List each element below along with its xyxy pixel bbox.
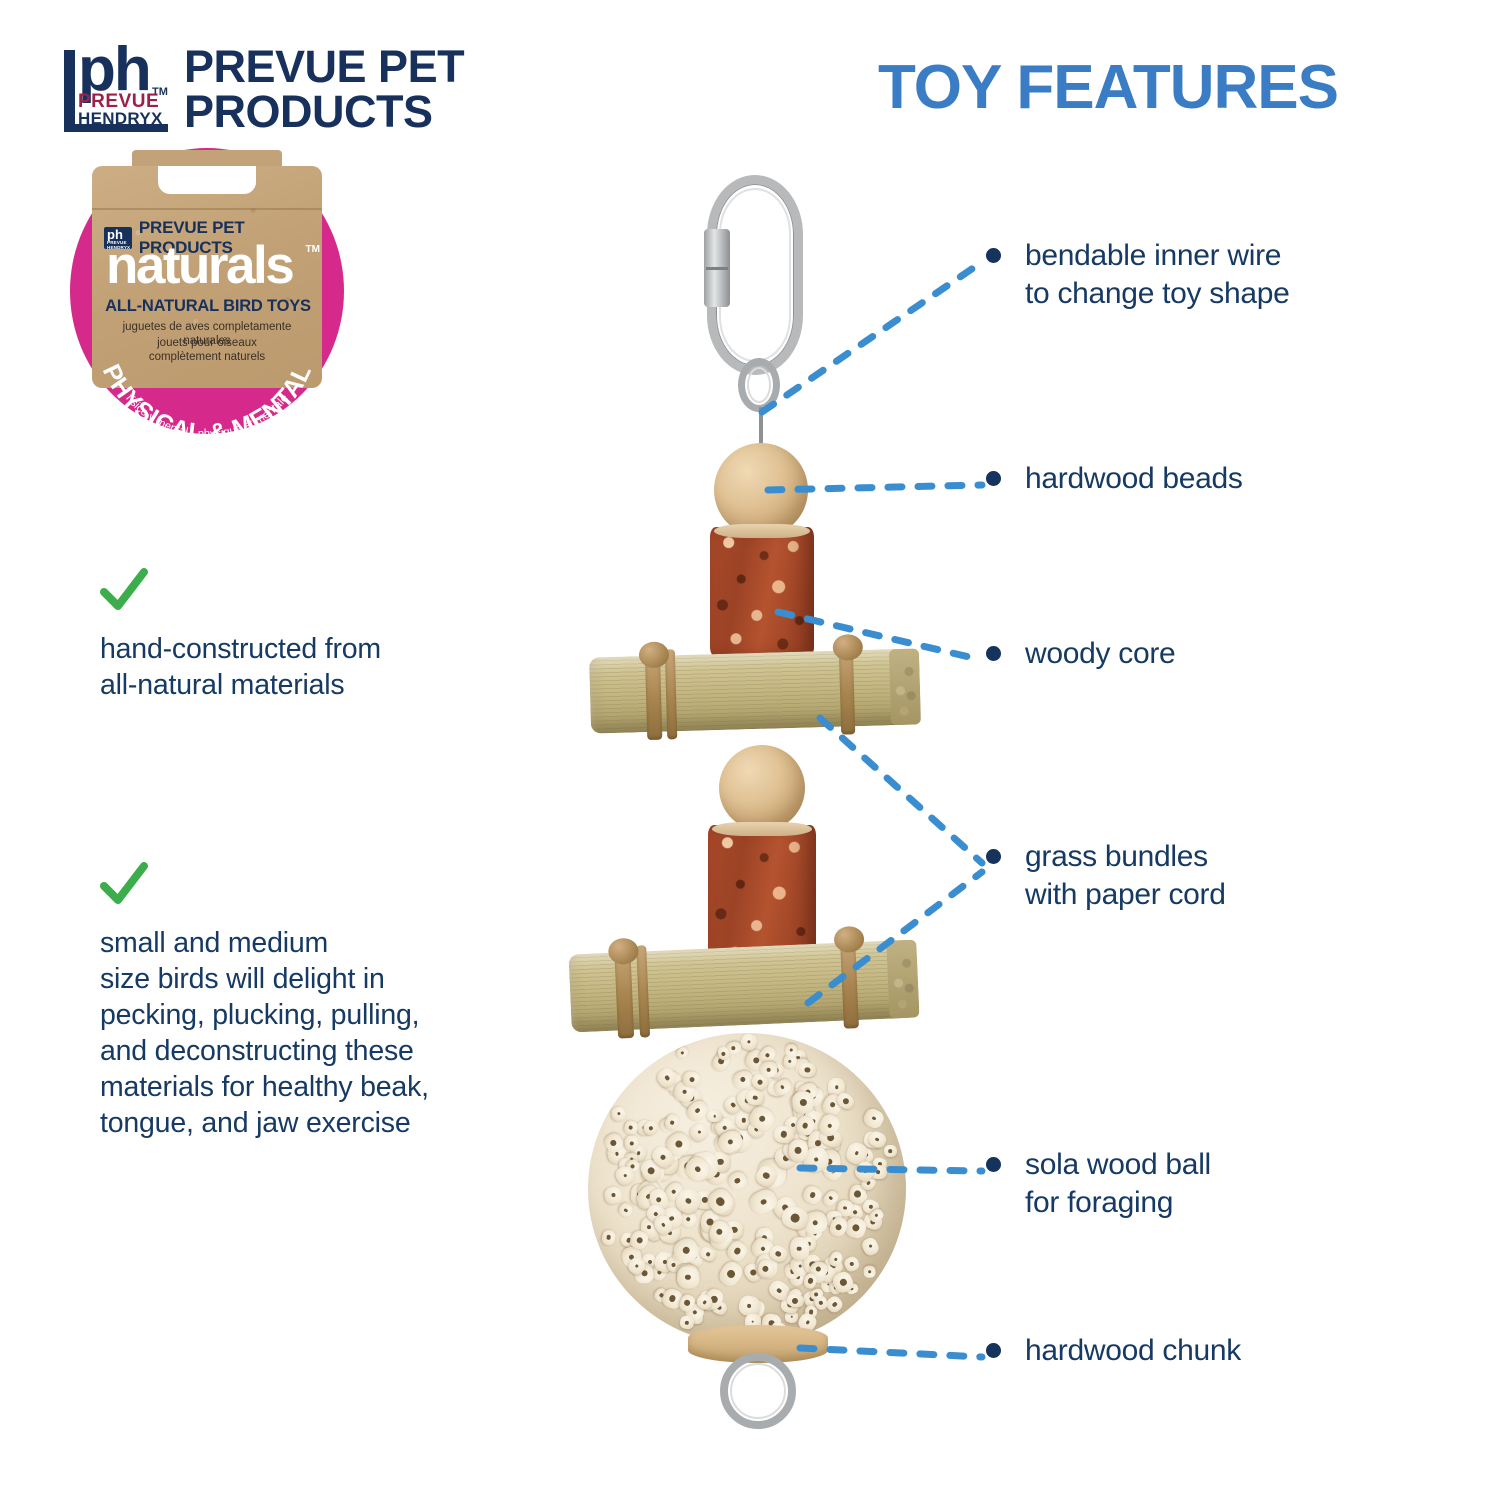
sola-cell-hole — [702, 1299, 707, 1304]
sola-cell-hole — [876, 1170, 880, 1174]
sola-cell-hole — [623, 1174, 627, 1178]
sola-cell-hole — [792, 1298, 799, 1305]
feature-label: grass bundles with paper cord — [1025, 838, 1226, 914]
sola-cell — [884, 1145, 897, 1158]
sola-cell — [603, 1185, 623, 1205]
sola-cell-hole — [715, 1196, 727, 1208]
sola-cell-hole — [844, 1207, 848, 1211]
sola-cell-hole — [802, 1123, 809, 1130]
feature-label: woody core — [1025, 635, 1175, 673]
woody-core-cap — [714, 524, 810, 538]
check-bullet-1-text: hand-constructed from all-natural materi… — [100, 631, 381, 703]
sola-cell-hole — [829, 1102, 836, 1109]
sola-cell-hole — [756, 1079, 763, 1086]
sola-cell-hole — [606, 1235, 611, 1240]
sola-cell-hole — [694, 1107, 701, 1114]
sola-cell-hole — [747, 1040, 751, 1044]
sola-cell-hole — [628, 1125, 633, 1130]
sola-cell-hole — [805, 1067, 810, 1072]
hardwood-bead-upper — [714, 443, 808, 537]
sola-cell — [843, 1254, 861, 1272]
hardwood-bead-lower — [719, 745, 805, 831]
check-bullet-2: small and medium size birds will delight… — [100, 862, 429, 1141]
feature-grass-bundles: grass bundles with paper cord — [986, 838, 1226, 914]
sola-cell — [610, 1106, 626, 1122]
sola-cell-hole — [868, 1271, 871, 1274]
sola-cell — [716, 1259, 746, 1290]
sola-cell — [860, 1236, 881, 1257]
sola-cell-hole — [838, 1278, 847, 1287]
sola-cell-hole — [805, 1320, 810, 1325]
sola-cell — [601, 1229, 617, 1246]
sola-cell-hole — [753, 1096, 758, 1101]
feature-hardwood-chunk: hardwood chunk — [986, 1332, 1241, 1370]
bullet-dot-icon — [986, 471, 1001, 486]
split-ring-bottom — [720, 1353, 796, 1429]
bullet-dot-icon — [986, 248, 1001, 263]
check-icon — [100, 568, 148, 614]
sola-cell-hole — [762, 1171, 771, 1180]
sola-cell-hole — [827, 1122, 832, 1127]
grass-cut-ends-right — [886, 939, 919, 1018]
sola-cell-hole — [731, 1046, 736, 1051]
sola-cell-hole — [835, 1085, 839, 1089]
sola-cell-hole — [757, 1114, 766, 1123]
sola-cell-hole — [623, 1208, 628, 1213]
sola-cell — [785, 1043, 797, 1056]
sola-cell-hole — [655, 1196, 662, 1203]
paper-cord-left-2 — [665, 649, 678, 739]
sola-cell-hole — [611, 1193, 616, 1198]
badge-arc-text: PHYSICAL & MENTAL físico y mental · phys… — [70, 148, 344, 434]
feature-label: hardwood beads — [1025, 460, 1243, 498]
sola-cell-hole — [868, 1204, 874, 1210]
sola-cell-hole — [834, 1223, 842, 1231]
sola-cell-hole — [660, 1154, 667, 1161]
naturals-badge: ph PREVUE HENDRYX PREVUE PET PRODUCTS na… — [70, 148, 344, 434]
sola-cell-hole — [780, 1085, 785, 1090]
sola-cell — [616, 1201, 634, 1219]
sola-cell-hole — [681, 1245, 691, 1255]
sola-cell-hole — [868, 1244, 872, 1248]
grass-bundle-lower — [568, 939, 919, 1032]
sola-cell-hole — [747, 1304, 752, 1309]
sola-cell-hole — [629, 1141, 633, 1145]
sola-cell-hole — [871, 1116, 876, 1121]
sola-cell-hole — [798, 1263, 802, 1267]
sola-cell-hole — [809, 1192, 816, 1199]
paper-cord-left-2 — [636, 945, 650, 1037]
sola-cell-hole — [790, 1316, 793, 1319]
feature-sola-wood-ball: sola wood ball for foraging — [986, 1146, 1211, 1222]
sola-cell-hole — [851, 1224, 860, 1233]
sola-cell-hole — [635, 1237, 643, 1245]
sola-cell-hole — [766, 1068, 771, 1073]
sola-cell-hole — [827, 1283, 830, 1286]
bullet-dot-icon — [986, 849, 1001, 864]
sola-cell-hole — [673, 1139, 683, 1149]
page-title: TOY FEATURES — [878, 52, 1338, 123]
sola-cell-hole — [680, 1051, 684, 1055]
bullet-dot-icon — [986, 1343, 1001, 1358]
sola-cell-hole — [733, 1246, 742, 1255]
feature-label: bendable inner wire to change toy shape — [1025, 237, 1290, 313]
sola-cell-hole — [648, 1125, 654, 1131]
sola-cell — [861, 1106, 886, 1130]
sola-cell-hole — [794, 1147, 802, 1155]
sola-cell-hole — [849, 1261, 855, 1267]
feature-hardwood-beads: hardwood beads — [986, 460, 1243, 498]
sola-cell-hole — [692, 1309, 698, 1315]
infographic-page: ph TM PREVUE HENDRYX PREVUE PET PRODUCTS… — [0, 0, 1500, 1500]
sola-cell — [674, 1045, 690, 1061]
sola-cell-hole — [742, 1118, 746, 1122]
sola-cell-hole — [888, 1149, 892, 1153]
check-icon — [100, 862, 148, 908]
sola-cell-hole — [764, 1052, 770, 1058]
sola-cell — [624, 1135, 639, 1151]
grass-cut-ends-right — [889, 648, 921, 725]
sola-cell — [792, 1091, 814, 1114]
sola-cell-hole — [863, 1169, 869, 1175]
sola-cell-hole — [812, 1219, 818, 1225]
sola-cell-hole — [790, 1048, 793, 1051]
paper-cord-knot-right — [832, 634, 863, 661]
sola-cell-hole — [610, 1139, 618, 1147]
sola-cell-hole — [727, 1139, 734, 1146]
sola-cell-hole — [749, 1268, 757, 1276]
sola-cell-hole — [762, 1265, 769, 1272]
paper-cord-knot-right — [834, 926, 865, 953]
sola-cell-hole — [637, 1151, 641, 1155]
sola-cell-hole — [721, 1051, 726, 1056]
sola-cell-hole — [685, 1275, 691, 1281]
sola-cell-hole — [685, 1197, 692, 1204]
sola-cell-hole — [642, 1271, 648, 1277]
sola-cell-hole — [780, 1131, 787, 1138]
sola-cell-hole — [819, 1300, 824, 1305]
sola-cell-hole — [789, 1213, 800, 1224]
wordmark-line-1: PREVUE PET — [184, 44, 464, 89]
sola-cell — [798, 1062, 815, 1077]
feature-bendable-inner-wire: bendable inner wire to change toy shape — [986, 237, 1290, 313]
sola-cell-hole — [814, 1157, 819, 1162]
sola-cell-hole — [689, 1076, 695, 1082]
logo-hendryx-text: HENDRYX — [78, 110, 163, 128]
sola-cell-hole — [789, 1060, 793, 1064]
sola-cell-hole — [686, 1216, 691, 1221]
sola-cell-hole — [685, 1320, 690, 1325]
sola-cell — [725, 1169, 750, 1193]
sola-cell — [677, 1266, 699, 1289]
sola-cell — [788, 1139, 808, 1162]
product-photo — [540, 175, 970, 1465]
sola-cell-hole — [647, 1225, 651, 1229]
logo-vertical-bar — [64, 50, 75, 132]
sola-cell-hole — [670, 1120, 675, 1125]
sola-cell-hole — [854, 1190, 862, 1198]
sola-cell — [687, 1121, 710, 1144]
sola-cell-hole — [697, 1130, 701, 1134]
wordmark-line-2: PRODUCTS — [184, 89, 464, 134]
sola-cell — [863, 1266, 875, 1278]
sola-cell-hole — [874, 1137, 879, 1142]
sola-cell-hole — [634, 1264, 638, 1268]
sola-cell-hole — [776, 1288, 782, 1294]
split-ring-top — [738, 358, 780, 412]
sola-cell-hole — [761, 1246, 766, 1251]
sola-cell-hole — [759, 1198, 766, 1205]
prevue-hendryx-logo-mark: ph TM PREVUE HENDRYX — [64, 44, 168, 132]
sola-cell-hole — [751, 1320, 754, 1323]
grass-bundle-upper — [589, 648, 921, 733]
bullet-dot-icon — [986, 646, 1001, 661]
sola-cell-hole — [729, 1102, 736, 1109]
sola-cell-hole — [828, 1196, 833, 1201]
sola-cell-hole — [725, 1269, 736, 1280]
sola-cell-hole — [831, 1301, 837, 1307]
paper-cord-knot-left — [608, 938, 639, 965]
sola-cell-hole — [683, 1089, 688, 1094]
sola-cell-hole — [716, 1228, 724, 1236]
sola-cell-hole — [854, 1151, 859, 1156]
sola-cell-hole — [734, 1177, 742, 1185]
sola-cell-hole — [834, 1257, 838, 1261]
check-bullet-2-text: small and medium size birds will delight… — [100, 925, 429, 1141]
sola-cell — [707, 1110, 722, 1122]
feature-label: sola wood ball for foraging — [1025, 1146, 1211, 1222]
sola-cell-hole — [683, 1299, 690, 1306]
feature-woody-core: woody core — [986, 635, 1175, 673]
sola-cell-hole — [875, 1214, 879, 1218]
check-bullet-1: hand-constructed from all-natural materi… — [100, 568, 381, 703]
sola-cell-hole — [647, 1166, 657, 1176]
sola-cell-hole — [661, 1223, 666, 1228]
feature-label: hardwood chunk — [1025, 1332, 1241, 1370]
sola-cell-hole — [713, 1115, 716, 1118]
sola-cell-hole — [616, 1112, 620, 1116]
sola-cell-hole — [797, 1246, 802, 1251]
sola-wood-ball — [588, 1033, 906, 1345]
sola-cell-hole — [694, 1165, 702, 1173]
sola-cell-hole — [740, 1077, 746, 1083]
sola-cell — [790, 1237, 810, 1261]
bullet-dot-icon — [986, 1157, 1001, 1172]
sola-cell-hole — [668, 1294, 676, 1302]
brand-wordmark: PREVUE PET PRODUCTS — [184, 44, 464, 134]
sola-cell-hole — [664, 1075, 670, 1081]
sola-cell-hole — [799, 1099, 806, 1106]
sola-cell-hole — [775, 1250, 782, 1257]
carabiner-clip — [707, 175, 803, 375]
sola-cell — [801, 1184, 824, 1207]
sola-cell-hole — [814, 1291, 819, 1296]
sola-cell-hole — [670, 1189, 677, 1196]
woody-core-cap — [712, 822, 812, 836]
brand-logo: ph TM PREVUE HENDRYX PREVUE PET PRODUCTS — [64, 44, 464, 134]
sola-cell-hole — [722, 1124, 728, 1130]
sola-cell — [623, 1119, 640, 1136]
sola-cell-hole — [853, 1209, 858, 1214]
sola-cell-hole — [841, 1097, 849, 1105]
carabiner-lock-sleeve — [704, 229, 730, 307]
sola-cell-hole — [807, 1277, 814, 1284]
sola-cell-hole — [816, 1267, 821, 1272]
woody-core-upper — [710, 527, 814, 657]
sola-cell-hole — [705, 1252, 710, 1257]
